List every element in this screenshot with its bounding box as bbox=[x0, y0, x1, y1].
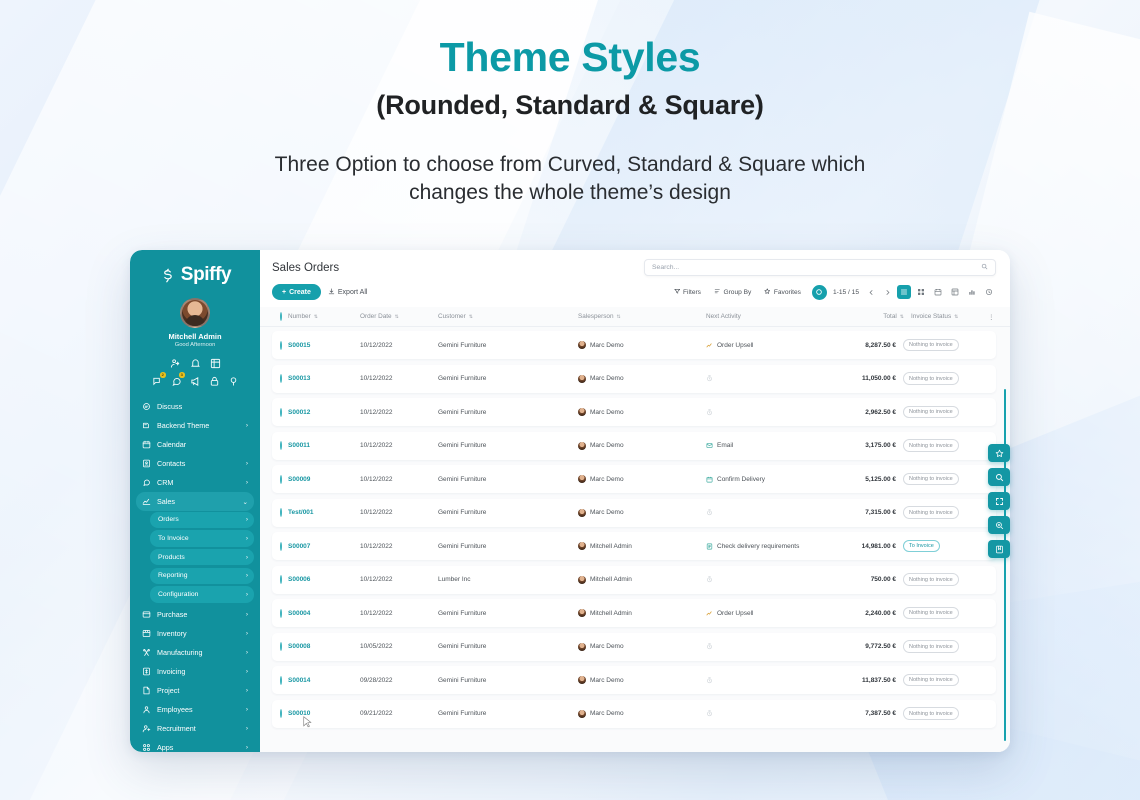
salesperson-name: Marc Demo bbox=[590, 509, 624, 516]
sidebar-item-orders[interactable]: Orders› bbox=[150, 512, 254, 529]
megaphone-icon[interactable] bbox=[190, 374, 201, 385]
row-checkbox[interactable] bbox=[272, 342, 288, 349]
mouse-cursor bbox=[303, 716, 312, 728]
cell-customer: Gemini Furniture bbox=[438, 643, 578, 650]
cell-salesperson: Marc Demo bbox=[578, 509, 706, 517]
cell-invoice-status: Nothing to invoice bbox=[896, 506, 980, 518]
sidebar-item-reporting[interactable]: Reporting› bbox=[150, 568, 254, 585]
avatar bbox=[578, 643, 586, 651]
activity-label: Confirm Delivery bbox=[717, 476, 765, 483]
chevron-icon: › bbox=[246, 422, 248, 429]
activity-label: Check delivery requirements bbox=[717, 543, 799, 550]
chevron-icon: › bbox=[246, 611, 248, 618]
cell-order-date: 10/12/2022 bbox=[360, 509, 438, 516]
row-checkbox[interactable] bbox=[272, 710, 288, 717]
status-badge: Nothing to invoice bbox=[903, 339, 959, 351]
sidebar-quick-icons-row-2: 2 3 bbox=[130, 374, 260, 385]
sidebar-item-label: To Invoice bbox=[156, 535, 240, 542]
salesperson-name: Marc Demo bbox=[590, 643, 624, 650]
chevron-icon: › bbox=[246, 535, 248, 542]
sort-icon: ⇅ bbox=[617, 314, 621, 320]
page-subtitle: (Rounded, Standard & Square) bbox=[0, 90, 1140, 121]
cell-invoice-status: Nothing to invoice bbox=[896, 573, 980, 585]
bell-icon[interactable] bbox=[190, 356, 201, 367]
chevron-icon: › bbox=[246, 516, 248, 523]
app-window-mockup: Spiffy Mitchell Admin Good Afternoon 2 bbox=[130, 250, 1010, 752]
cell-total: 2,240.00 € bbox=[822, 610, 896, 617]
row-checkbox[interactable] bbox=[272, 543, 288, 550]
column-header-total[interactable]: Total⇅ bbox=[830, 313, 904, 320]
project-icon bbox=[142, 686, 151, 695]
sort-icon: ⇅ bbox=[469, 314, 473, 320]
cell-total: 14,981.00 € bbox=[822, 543, 896, 550]
avatar bbox=[578, 341, 586, 349]
cell-total: 2,962.50 € bbox=[822, 409, 896, 416]
search-placeholder: Search... bbox=[652, 264, 981, 271]
sidebar-item-label: Purchase bbox=[157, 610, 240, 619]
cell-number[interactable]: S00006 bbox=[288, 576, 310, 583]
main-content: Sales Orders Search... + Create bbox=[260, 250, 1010, 752]
cell-total: 3,175.00 € bbox=[822, 442, 896, 449]
chevron-icon: › bbox=[246, 744, 248, 751]
employees-icon bbox=[142, 705, 151, 714]
cell-order-date: 10/12/2022 bbox=[360, 576, 438, 583]
sidebar-item-label: Reporting bbox=[156, 572, 240, 579]
cell-number[interactable]: Test/001 bbox=[288, 509, 314, 516]
cell-order-date: 09/21/2022 bbox=[360, 710, 438, 717]
cell-order-date: 10/12/2022 bbox=[360, 342, 438, 349]
cell-salesperson: Mitchell Admin bbox=[578, 542, 706, 550]
salesperson-name: Mitchell Admin bbox=[590, 610, 632, 617]
clock-icon bbox=[706, 409, 713, 416]
column-header-invoice-status[interactable]: Invoice Status⇅ bbox=[904, 313, 988, 320]
cell-salesperson: Marc Demo bbox=[578, 408, 706, 416]
chevron-icon: › bbox=[246, 572, 248, 579]
sidebar-item-purchase[interactable]: Purchase› bbox=[136, 605, 254, 624]
salesperson-name: Mitchell Admin bbox=[590, 543, 632, 550]
group-by-label: Group By bbox=[723, 289, 751, 296]
favorites-button[interactable]: Favorites bbox=[759, 285, 806, 300]
pivot-view-icon[interactable] bbox=[948, 285, 962, 299]
previous-page-button[interactable] bbox=[865, 286, 878, 299]
salesperson-name: Marc Demo bbox=[590, 375, 624, 382]
column-options-icon[interactable]: ⋮ bbox=[988, 313, 996, 321]
cell-next-activity[interactable]: Confirm Delivery bbox=[706, 476, 822, 483]
cell-number[interactable]: S00011 bbox=[288, 442, 310, 449]
crm-icon bbox=[142, 478, 151, 487]
cell-total: 5,125.00 € bbox=[822, 476, 896, 483]
sidebar-item-contacts[interactable]: Contacts› bbox=[136, 454, 254, 473]
cell-number[interactable]: S00007 bbox=[288, 543, 310, 550]
chevron-icon: › bbox=[246, 687, 248, 694]
cell-salesperson: Marc Demo bbox=[578, 375, 706, 383]
sales-icon bbox=[142, 497, 151, 506]
toolbar: Sales Orders Search... + Create bbox=[260, 250, 1010, 307]
row-checkbox[interactable] bbox=[272, 442, 288, 449]
row-checkbox[interactable] bbox=[272, 509, 288, 516]
sidebar-item-crm[interactable]: CRM› bbox=[136, 473, 254, 492]
cell-customer: Gemini Furniture bbox=[438, 610, 578, 617]
sort-icon: ⇅ bbox=[395, 314, 399, 320]
status-badge: Nothing to invoice bbox=[903, 707, 959, 719]
clock-icon bbox=[706, 643, 713, 650]
column-header-order-date[interactable]: Order Date⇅ bbox=[360, 313, 438, 320]
row-checkbox[interactable] bbox=[272, 643, 288, 650]
sidebar-item-employees[interactable]: Employees› bbox=[136, 700, 254, 719]
avatar bbox=[578, 710, 586, 718]
sidebar-item-to-invoice[interactable]: To Invoice› bbox=[150, 530, 254, 547]
apps-icon bbox=[142, 743, 151, 752]
status-badge: Nothing to invoice bbox=[903, 506, 959, 518]
sidebar-item-apps[interactable]: Apps› bbox=[136, 739, 254, 752]
column-label: Salesperson bbox=[578, 313, 614, 320]
cell-salesperson: Marc Demo bbox=[578, 341, 706, 349]
sidebar-item-label: Orders bbox=[156, 516, 240, 523]
clock-icon bbox=[706, 710, 713, 717]
cell-next-activity[interactable] bbox=[706, 576, 822, 583]
cell-total: 11,050.00 € bbox=[822, 375, 896, 382]
status-badge: Nothing to invoice bbox=[903, 573, 959, 585]
sidebar-item-label: Manufacturing bbox=[157, 648, 240, 657]
chart-icon bbox=[706, 610, 713, 617]
star-icon bbox=[764, 288, 771, 297]
salesperson-name: Marc Demo bbox=[590, 677, 624, 684]
chevron-icon: › bbox=[246, 479, 248, 486]
cell-salesperson: Marc Demo bbox=[578, 442, 706, 450]
column-header-customer[interactable]: Customer⇅ bbox=[438, 313, 578, 320]
messages-icon[interactable]: 2 bbox=[152, 374, 163, 385]
avatar bbox=[578, 542, 586, 550]
status-badge: Nothing to invoice bbox=[903, 406, 959, 418]
cell-customer: Gemini Furniture bbox=[438, 476, 578, 483]
status-badge: Nothing to invoice bbox=[903, 674, 959, 686]
user-switch-icon[interactable] bbox=[170, 356, 181, 367]
cell-customer: Gemini Furniture bbox=[438, 442, 578, 449]
status-badge: Nothing to invoice bbox=[903, 439, 959, 451]
cell-next-activity[interactable]: Order Upsell bbox=[706, 342, 822, 349]
table-row[interactable]: S0001210/12/2022Gemini FurnitureMarc Dem… bbox=[272, 398, 996, 426]
avatar bbox=[578, 475, 586, 483]
cell-number[interactable]: S00009 bbox=[288, 476, 310, 483]
purchase-icon bbox=[142, 610, 151, 619]
cell-salesperson: Mitchell Admin bbox=[578, 576, 706, 584]
cell-invoice-status: Nothing to invoice bbox=[896, 473, 980, 485]
avatar bbox=[578, 408, 586, 416]
sort-icon: ⇅ bbox=[314, 314, 318, 320]
cell-invoice-status: Nothing to invoice bbox=[896, 674, 980, 686]
cell-total: 7,315.00 € bbox=[822, 509, 896, 516]
sidebar-item-recruitment[interactable]: Recruitment› bbox=[136, 720, 254, 739]
salesperson-name: Marc Demo bbox=[590, 710, 624, 717]
avatar bbox=[578, 509, 586, 517]
hero-section: Theme Styles (Rounded, Standard & Square… bbox=[0, 0, 1140, 207]
cell-order-date: 10/05/2022 bbox=[360, 643, 438, 650]
cell-next-activity[interactable] bbox=[706, 677, 822, 684]
table-row[interactable]: S0000810/05/2022Gemini FurnitureMarc Dem… bbox=[272, 633, 996, 661]
export-all-label: Export All bbox=[338, 289, 368, 296]
sort-icon: ⇅ bbox=[954, 314, 958, 320]
sidebar-item-label: Contacts bbox=[157, 459, 240, 468]
filters-button[interactable]: Filters bbox=[669, 285, 706, 300]
cell-total: 8,287.50 € bbox=[822, 342, 896, 349]
avatar[interactable] bbox=[180, 298, 210, 328]
cell-invoice-status: Nothing to invoice bbox=[896, 439, 980, 451]
activity-view-icon[interactable] bbox=[982, 285, 996, 299]
status-badge: Nothing to invoice bbox=[903, 640, 959, 652]
fullscreen-icon[interactable] bbox=[988, 492, 1010, 510]
cell-customer: Gemini Furniture bbox=[438, 375, 578, 382]
column-label: Number bbox=[288, 313, 311, 320]
zoom-search-icon[interactable] bbox=[988, 516, 1010, 534]
sidebar-item-label: Employees bbox=[157, 705, 240, 714]
filter-icon bbox=[674, 288, 681, 297]
table-row[interactable]: S0000410/12/2022Gemini FurnitureMitchell… bbox=[272, 599, 996, 627]
row-checkbox[interactable] bbox=[272, 476, 288, 483]
sidebar-item-backend-theme[interactable]: Backend Theme› bbox=[136, 416, 254, 435]
column-header-next-activity[interactable]: Next Activity bbox=[706, 313, 830, 320]
table-row[interactable]: S0000610/12/2022Lumber IncMitchell Admin… bbox=[272, 566, 996, 594]
sidebar-item-label: Configuration bbox=[156, 591, 240, 598]
chart-icon bbox=[706, 342, 713, 349]
chevron-icon: › bbox=[246, 706, 248, 713]
brand-logo[interactable]: Spiffy bbox=[130, 260, 260, 294]
column-label: Customer bbox=[438, 313, 466, 320]
table-body: S0001510/12/2022Gemini FurnitureMarc Dem… bbox=[260, 327, 1010, 752]
cell-order-date: 10/12/2022 bbox=[360, 543, 438, 550]
cell-invoice-status: Nothing to invoice bbox=[896, 406, 980, 418]
cell-next-activity[interactable]: Check delivery requirements bbox=[706, 543, 822, 550]
column-label: Next Activity bbox=[706, 313, 741, 320]
download-icon bbox=[328, 288, 335, 297]
activity-label: Email bbox=[717, 442, 733, 449]
graph-view-icon[interactable] bbox=[965, 285, 979, 299]
clock-icon bbox=[706, 677, 713, 684]
avatar bbox=[578, 442, 586, 450]
favorites-label: Favorites bbox=[774, 289, 801, 296]
plus-icon: + bbox=[282, 289, 286, 296]
column-label: Invoice Status bbox=[911, 313, 951, 320]
activity-label: Order Upsell bbox=[717, 342, 753, 349]
export-all-button[interactable]: Export All bbox=[328, 288, 368, 297]
table-header: Number⇅ Order Date⇅ Customer⇅ Salesperso… bbox=[260, 307, 1010, 327]
cell-customer: Gemini Furniture bbox=[438, 509, 578, 516]
row-checkbox[interactable] bbox=[272, 610, 288, 617]
cell-next-activity[interactable]: Email bbox=[706, 442, 822, 449]
invoicing-icon bbox=[142, 667, 151, 676]
sidebar-item-manufacturing[interactable]: Manufacturing› bbox=[136, 643, 254, 662]
lock-icon[interactable] bbox=[209, 374, 220, 385]
view-title: Sales Orders bbox=[272, 262, 339, 274]
theme-icon bbox=[142, 421, 151, 430]
star-icon[interactable] bbox=[988, 444, 1010, 462]
sidebar-item-invoicing[interactable]: Invoicing› bbox=[136, 662, 254, 681]
search-icon[interactable] bbox=[988, 468, 1010, 486]
chevron-icon: › bbox=[246, 649, 248, 656]
email-icon bbox=[706, 442, 713, 449]
column-label: Total bbox=[883, 313, 897, 320]
row-checkbox[interactable] bbox=[272, 576, 288, 583]
table-row[interactable]: S0000910/12/2022Gemini FurnitureMarc Dem… bbox=[272, 465, 996, 493]
cell-number[interactable]: S00004 bbox=[288, 610, 310, 617]
chevron-icon: › bbox=[246, 630, 248, 637]
bookmark-icon[interactable] bbox=[988, 540, 1010, 558]
sidebar-item-label: Discuss bbox=[157, 402, 248, 411]
sidebar-item-label: Sales bbox=[157, 497, 237, 506]
list-view-icon[interactable] bbox=[897, 285, 911, 299]
cell-number[interactable]: S00015 bbox=[288, 342, 310, 349]
loading-indicator-icon[interactable] bbox=[812, 285, 827, 300]
grid-apps-icon[interactable] bbox=[210, 356, 221, 367]
cell-salesperson: Marc Demo bbox=[578, 676, 706, 684]
chat-badge: 3 bbox=[179, 372, 185, 378]
chat-icon[interactable]: 3 bbox=[171, 374, 182, 385]
cell-number[interactable]: S00014 bbox=[288, 677, 310, 684]
cell-invoice-status: Nothing to invoice bbox=[896, 607, 980, 619]
sidebar-item-sales[interactable]: Sales⌄ bbox=[136, 492, 254, 511]
sidebar-item-calendar[interactable]: Calendar bbox=[136, 435, 254, 454]
note-icon bbox=[706, 543, 713, 550]
group-by-icon bbox=[714, 288, 721, 297]
manufacturing-icon bbox=[142, 648, 151, 657]
sidebar-item-project[interactable]: Project› bbox=[136, 681, 254, 700]
cell-total: 7,387.50 € bbox=[822, 710, 896, 717]
chevron-icon: › bbox=[246, 725, 248, 732]
recruitment-icon bbox=[142, 724, 151, 733]
cell-next-activity[interactable] bbox=[706, 643, 822, 650]
user-profile[interactable]: Mitchell Admin Good Afternoon bbox=[130, 298, 260, 348]
cell-invoice-status: Nothing to invoice bbox=[896, 640, 980, 652]
chevron-icon: › bbox=[246, 554, 248, 561]
page-title: Theme Styles bbox=[0, 34, 1140, 81]
kanban-view-icon[interactable] bbox=[914, 285, 928, 299]
next-page-button[interactable] bbox=[881, 286, 894, 299]
select-all-checkbox[interactable] bbox=[272, 313, 288, 320]
cell-order-date: 10/12/2022 bbox=[360, 442, 438, 449]
sidebar-item-configuration[interactable]: Configuration› bbox=[150, 586, 254, 603]
sidebar-item-label: Calendar bbox=[157, 440, 248, 449]
column-label: Order Date bbox=[360, 313, 392, 320]
salesperson-name: Mitchell Admin bbox=[590, 576, 632, 583]
group-by-button[interactable]: Group By bbox=[709, 285, 756, 300]
sidebar-item-label: Apps bbox=[157, 743, 240, 752]
inventory-icon bbox=[142, 629, 151, 638]
row-checkbox[interactable] bbox=[272, 375, 288, 382]
cell-total: 9,772.50 € bbox=[822, 643, 896, 650]
table-row[interactable]: S0001510/12/2022Gemini FurnitureMarc Dem… bbox=[272, 331, 996, 359]
activity-label: Order Upsell bbox=[717, 610, 753, 617]
cell-order-date: 10/12/2022 bbox=[360, 476, 438, 483]
cell-salesperson: Marc Demo bbox=[578, 643, 706, 651]
cell-number[interactable]: S00013 bbox=[288, 375, 310, 382]
row-checkbox[interactable] bbox=[272, 409, 288, 416]
column-header-salesperson[interactable]: Salesperson⇅ bbox=[578, 313, 706, 320]
salesperson-name: Marc Demo bbox=[590, 476, 624, 483]
search-input[interactable]: Search... bbox=[644, 259, 996, 276]
cell-next-activity[interactable] bbox=[706, 409, 822, 416]
table-row[interactable]: Test/00110/12/2022Gemini FurnitureMarc D… bbox=[272, 499, 996, 527]
cell-customer: Gemini Furniture bbox=[438, 710, 578, 717]
chevron-icon: › bbox=[246, 460, 248, 467]
cell-number[interactable]: S00008 bbox=[288, 643, 310, 650]
cell-salesperson: Mitchell Admin bbox=[578, 609, 706, 617]
salesperson-name: Marc Demo bbox=[590, 442, 624, 449]
brand-name: Spiffy bbox=[181, 264, 231, 286]
create-button[interactable]: + Create bbox=[272, 284, 321, 300]
avatar bbox=[578, 676, 586, 684]
avatar bbox=[578, 375, 586, 383]
search-icon[interactable] bbox=[981, 263, 988, 272]
sidebar-menu: DiscussBackend Theme›CalendarContacts›CR… bbox=[130, 397, 260, 752]
avatar bbox=[578, 576, 586, 584]
sidebar-item-discuss[interactable]: Discuss bbox=[136, 397, 254, 416]
spiffy-logo-icon bbox=[159, 267, 176, 284]
calendar-view-icon[interactable] bbox=[931, 285, 945, 299]
cell-number[interactable]: S00012 bbox=[288, 409, 310, 416]
status-badge: Nothing to invoice bbox=[903, 372, 959, 384]
sidebar-item-label: CRM bbox=[157, 478, 240, 487]
cell-customer: Gemini Furniture bbox=[438, 409, 578, 416]
clock-icon bbox=[706, 509, 713, 516]
cell-order-date: 10/12/2022 bbox=[360, 610, 438, 617]
calendar-icon bbox=[142, 440, 151, 449]
table-row[interactable]: S0001409/28/2022Gemini FurnitureMarc Dem… bbox=[272, 666, 996, 694]
page-description: Three Option to choose from Curved, Stan… bbox=[0, 151, 1140, 207]
cell-customer: Gemini Furniture bbox=[438, 342, 578, 349]
sidebar-item-inventory[interactable]: Inventory› bbox=[136, 624, 254, 643]
lightbulb-icon[interactable] bbox=[228, 374, 239, 385]
sidebar-item-products[interactable]: Products› bbox=[150, 549, 254, 566]
column-header-number[interactable]: Number⇅ bbox=[288, 313, 360, 320]
chevron-icon: › bbox=[246, 591, 248, 598]
table-row[interactable]: S0000710/12/2022Gemini FurnitureMitchell… bbox=[272, 532, 996, 560]
chevron-icon: › bbox=[246, 668, 248, 675]
create-label: Create bbox=[289, 289, 311, 296]
sidebar-item-label: Project bbox=[157, 686, 240, 695]
cell-invoice-status: Nothing to invoice bbox=[896, 372, 980, 384]
calendar-icon bbox=[706, 476, 713, 483]
description-line-2: changes the whole theme’s design bbox=[0, 179, 1140, 207]
table-row[interactable]: S0001110/12/2022Gemini FurnitureMarc Dem… bbox=[272, 432, 996, 460]
messages-badge: 2 bbox=[160, 372, 166, 378]
row-checkbox[interactable] bbox=[272, 677, 288, 684]
cell-next-activity[interactable]: Order Upsell bbox=[706, 610, 822, 617]
cell-salesperson: Marc Demo bbox=[578, 475, 706, 483]
chevron-icon: ⌄ bbox=[243, 498, 248, 506]
table-row[interactable]: S0001009/21/2022Gemini FurnitureMarc Dem… bbox=[272, 700, 996, 728]
floating-toolbar bbox=[988, 444, 1010, 558]
cell-next-activity[interactable] bbox=[706, 375, 822, 382]
status-badge: Nothing to invoice bbox=[903, 473, 959, 485]
cell-order-date: 09/28/2022 bbox=[360, 677, 438, 684]
table-row[interactable]: S0001310/12/2022Gemini FurnitureMarc Dem… bbox=[272, 365, 996, 393]
sidebar-item-label: Inventory bbox=[157, 629, 240, 638]
cell-next-activity[interactable] bbox=[706, 710, 822, 717]
cell-invoice-status: Nothing to invoice bbox=[896, 707, 980, 719]
pagination-label[interactable]: 1-15 / 15 bbox=[833, 289, 859, 296]
sidebar-quick-icons-row-1 bbox=[130, 356, 260, 367]
contacts-icon bbox=[142, 459, 151, 468]
cell-order-date: 10/12/2022 bbox=[360, 375, 438, 382]
sidebar-item-label: Recruitment bbox=[157, 724, 240, 733]
cell-invoice-status: Nothing to invoice bbox=[896, 339, 980, 351]
vertical-scrollbar[interactable] bbox=[1004, 389, 1007, 741]
cell-invoice-status: To Invoice bbox=[896, 540, 980, 552]
sidebar-item-label: Backend Theme bbox=[157, 421, 240, 430]
discuss-icon bbox=[142, 402, 151, 411]
cell-next-activity[interactable] bbox=[706, 509, 822, 516]
sidebar-item-label: Invoicing bbox=[157, 667, 240, 676]
cell-salesperson: Marc Demo bbox=[578, 710, 706, 718]
